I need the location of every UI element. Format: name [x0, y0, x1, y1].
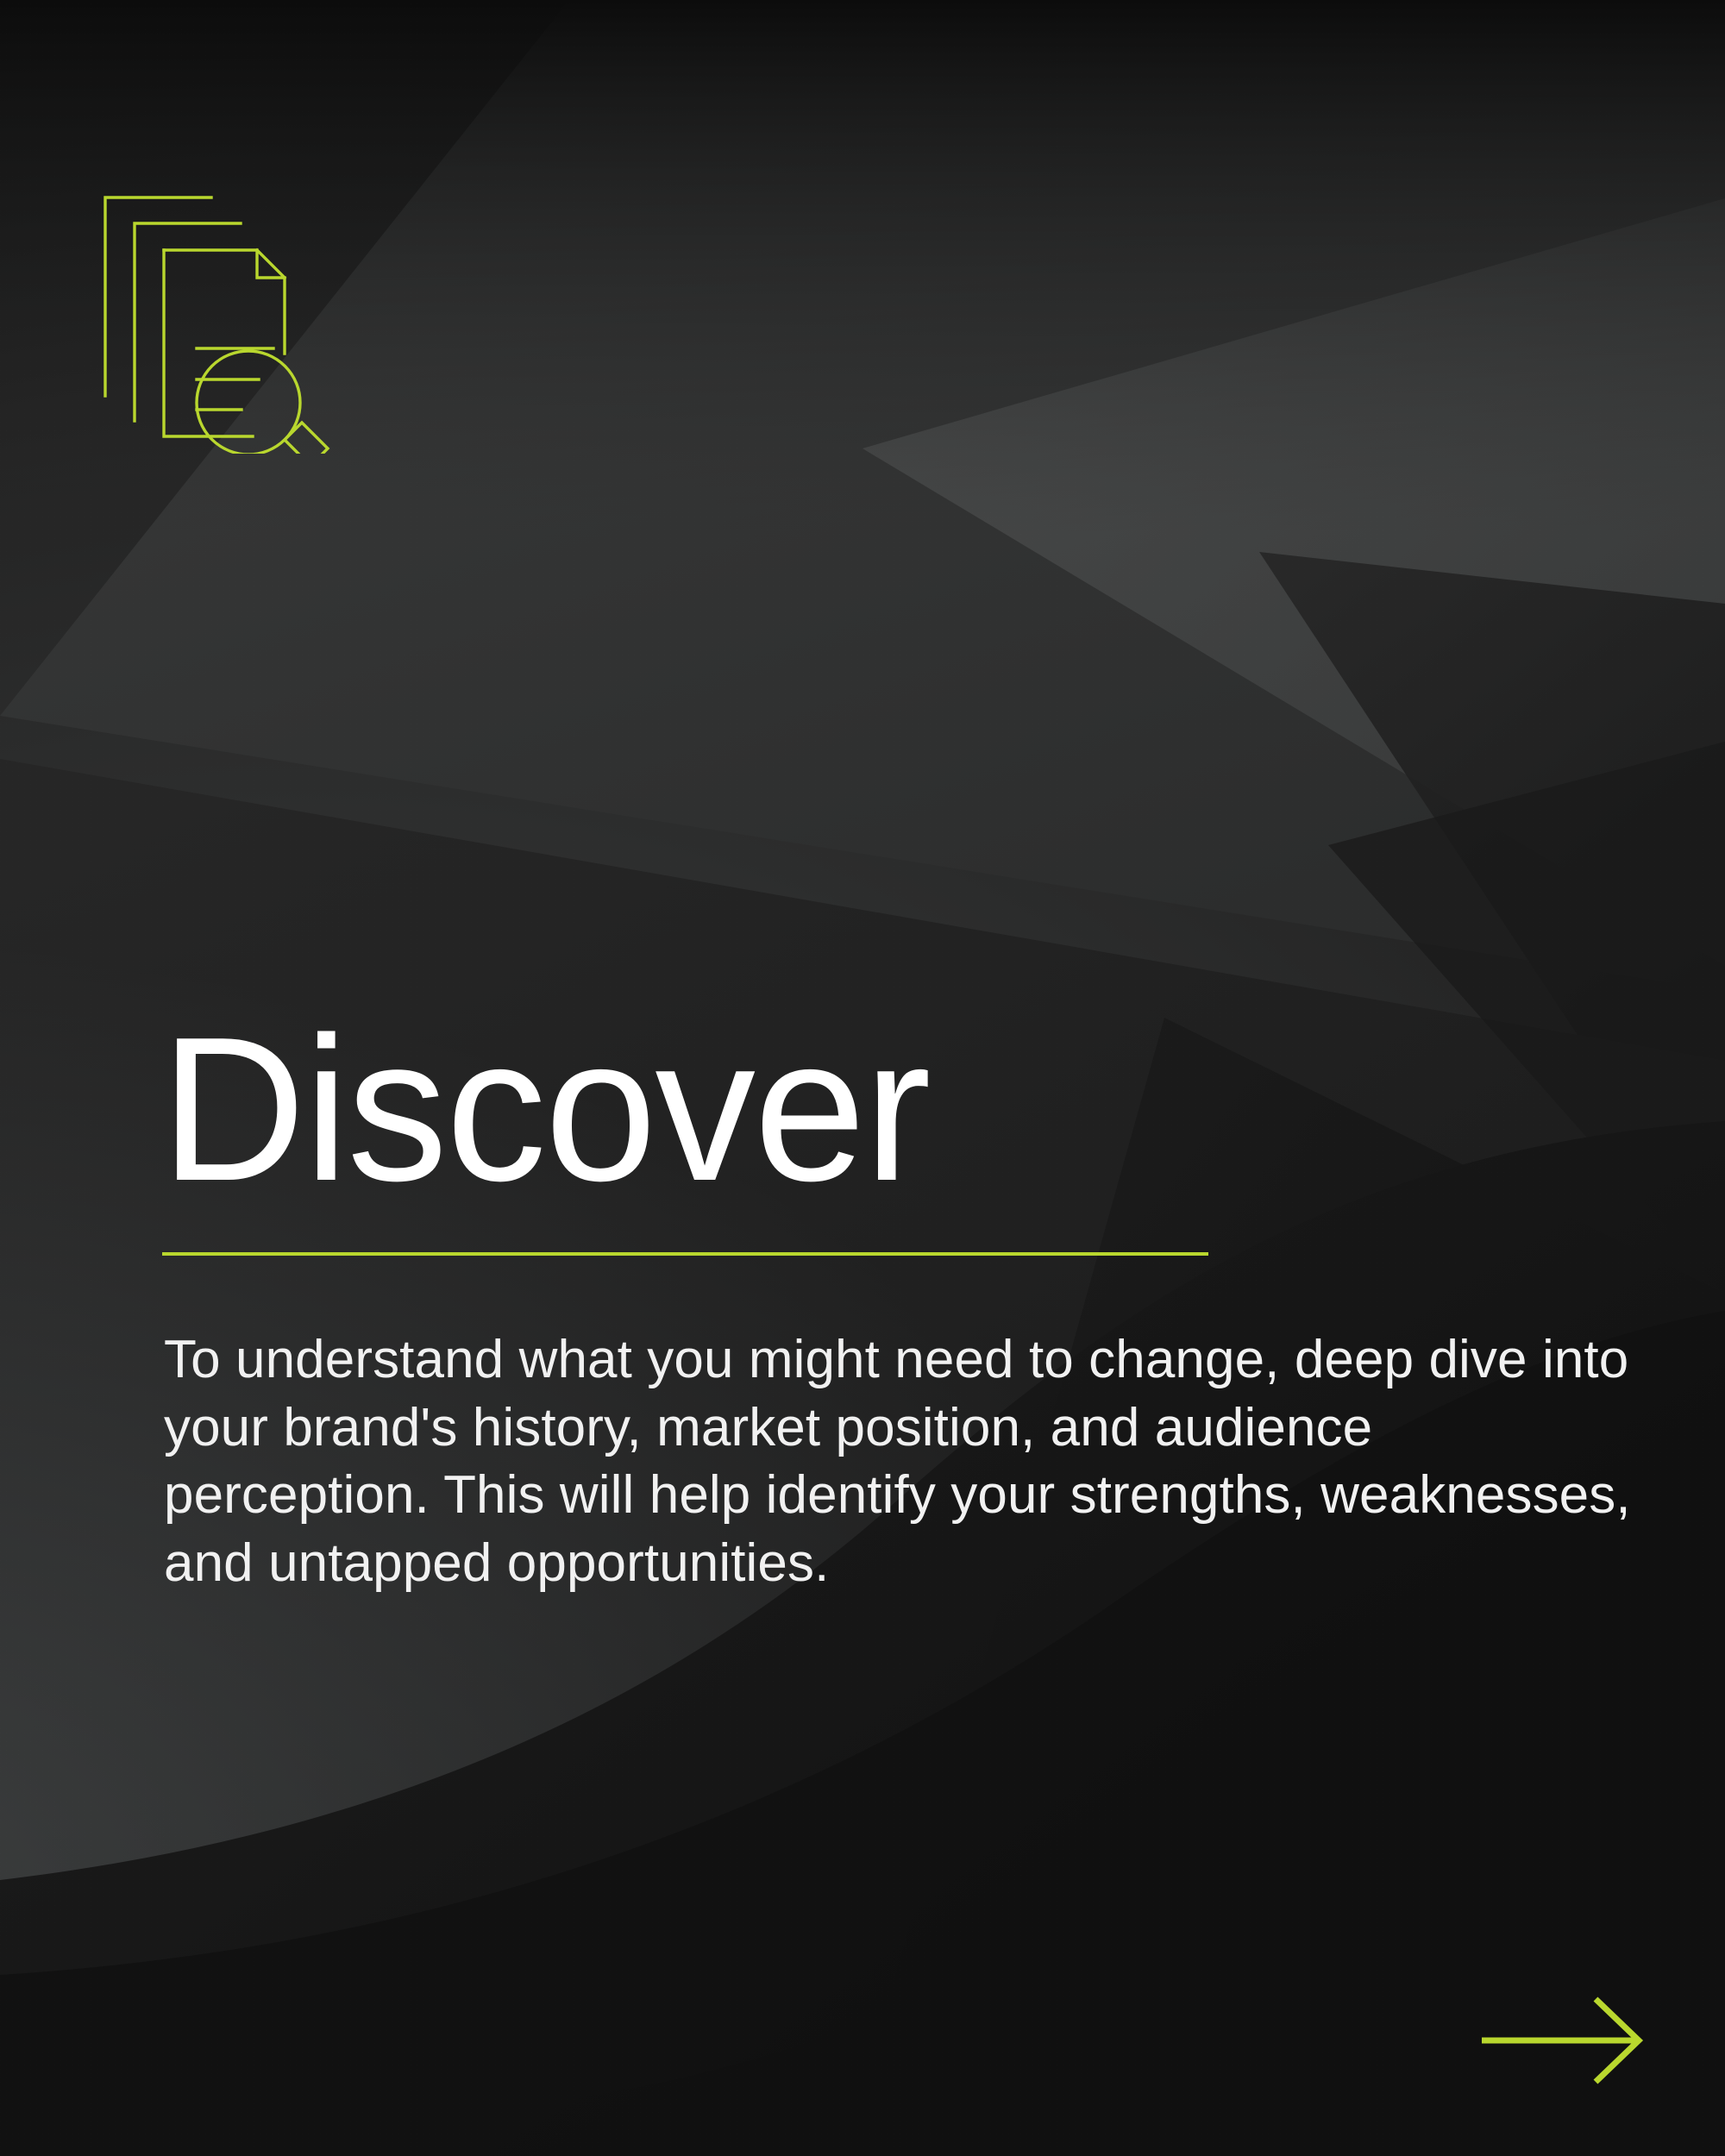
documents-with-magnifier-icon [97, 185, 373, 454]
page-title: Discover [160, 1007, 930, 1213]
title-underline-accent [162, 1252, 1208, 1256]
slide-canvas: Discover To understand what you might ne… [0, 0, 1725, 2156]
next-button[interactable] [1477, 1989, 1658, 2092]
body-paragraph: To understand what you might need to cha… [164, 1326, 1639, 1598]
arrow-right-icon [1477, 1989, 1658, 2092]
